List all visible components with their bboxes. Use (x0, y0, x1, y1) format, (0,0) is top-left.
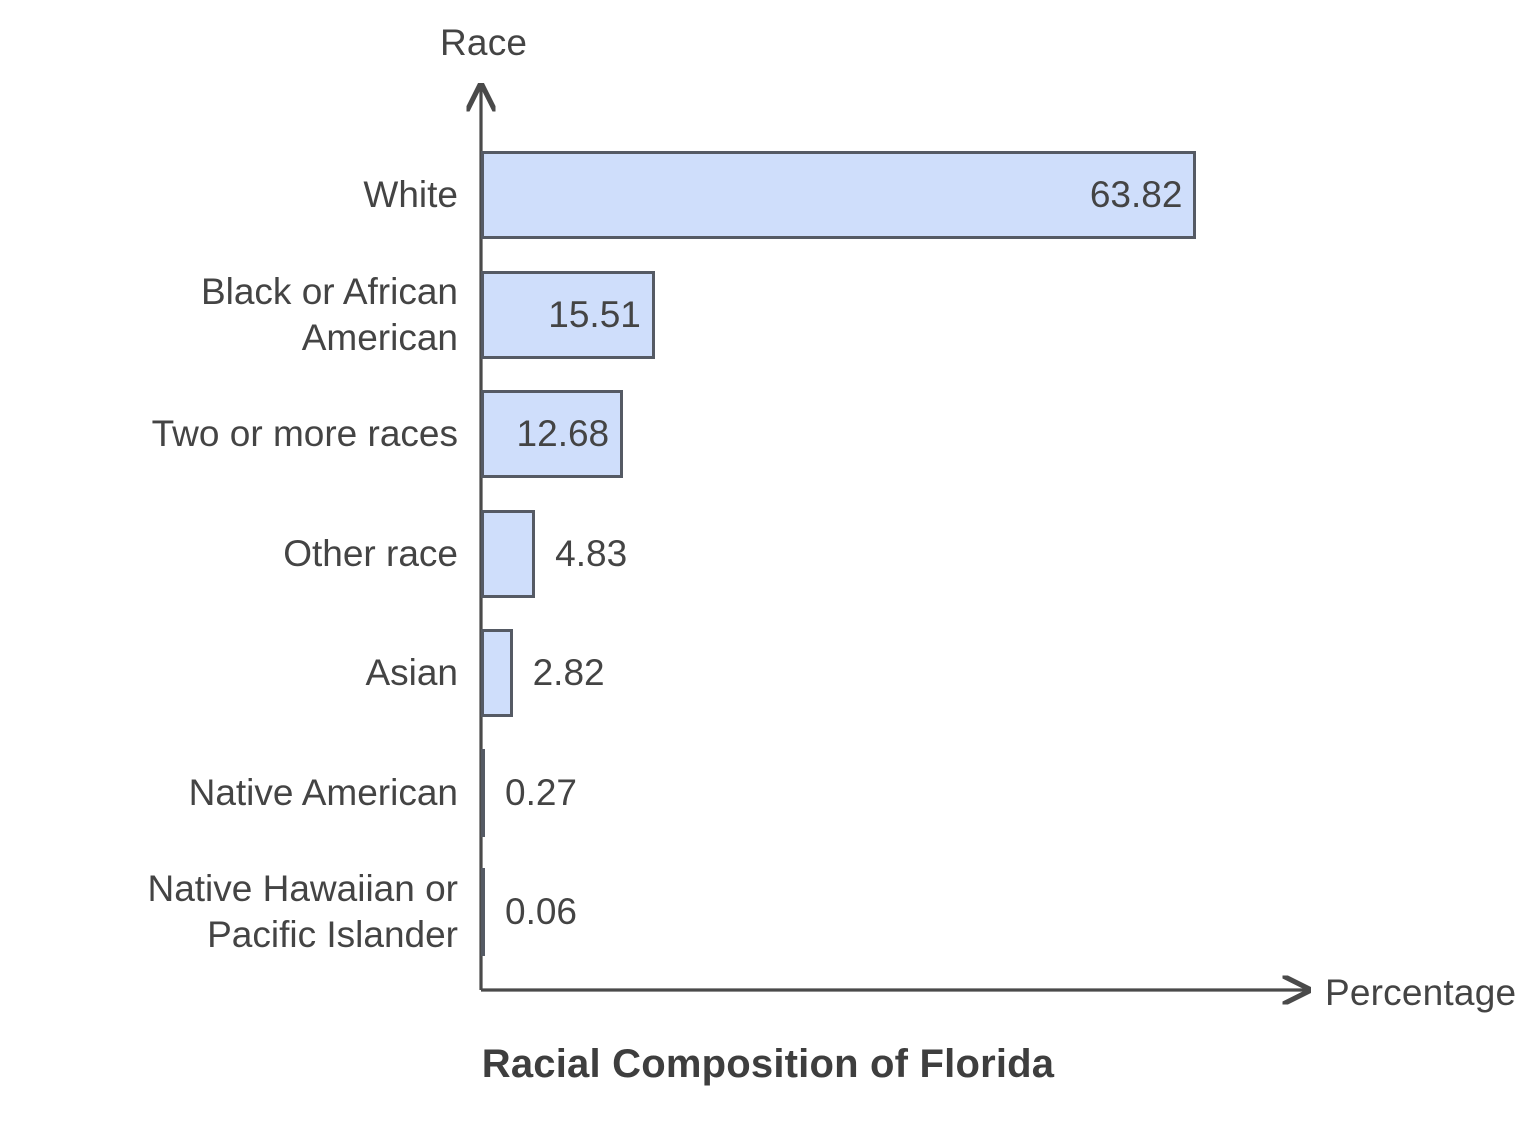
bar-row: Other race4.83 (0, 510, 1536, 598)
category-label: Asian (40, 629, 480, 717)
bar[interactable] (481, 510, 535, 598)
bar-value-label: 63.82 (1090, 172, 1183, 218)
bar-container (481, 510, 535, 598)
bar-row: Asian2.82 (0, 629, 1536, 717)
bar-value-label: 0.06 (505, 889, 577, 935)
bar-container (481, 749, 485, 837)
bar-container (481, 629, 513, 717)
category-label: White (40, 151, 480, 239)
bar-container: 12.68 (481, 390, 623, 478)
bar-container: 15.51 (481, 271, 655, 359)
bar-row: Native American0.27 (0, 749, 1536, 837)
bar-row: Native Hawaiian or Pacific Islander0.06 (0, 868, 1536, 956)
bar-row: Two or more races12.68 (0, 390, 1536, 478)
bar[interactable] (481, 868, 485, 956)
bar-row: Black or African American15.51 (0, 271, 1536, 359)
bar-row: White63.82 (0, 151, 1536, 239)
category-label: Black or African American (40, 271, 480, 359)
category-label: Native American (40, 749, 480, 837)
chart-title: Racial Composition of Florida (0, 1042, 1536, 1087)
bar-value-label: 4.83 (555, 531, 627, 577)
bar-container: 63.82 (481, 151, 1196, 239)
bar-container (481, 868, 485, 956)
bar-value-label: 0.27 (505, 770, 577, 816)
bar-value-label: 2.82 (533, 650, 605, 696)
bar-value-label: 12.68 (517, 411, 610, 457)
category-label: Other race (40, 510, 480, 598)
bar[interactable] (481, 629, 513, 717)
category-label: Two or more races (40, 390, 480, 478)
bar-value-label: 15.51 (548, 292, 641, 338)
bar-chart: Race Percentage White63.82Black or Afric… (0, 0, 1536, 1122)
bar-series: White63.82Black or African American15.51… (0, 0, 1536, 1122)
bar[interactable] (481, 749, 485, 837)
category-label: Native Hawaiian or Pacific Islander (40, 868, 480, 956)
